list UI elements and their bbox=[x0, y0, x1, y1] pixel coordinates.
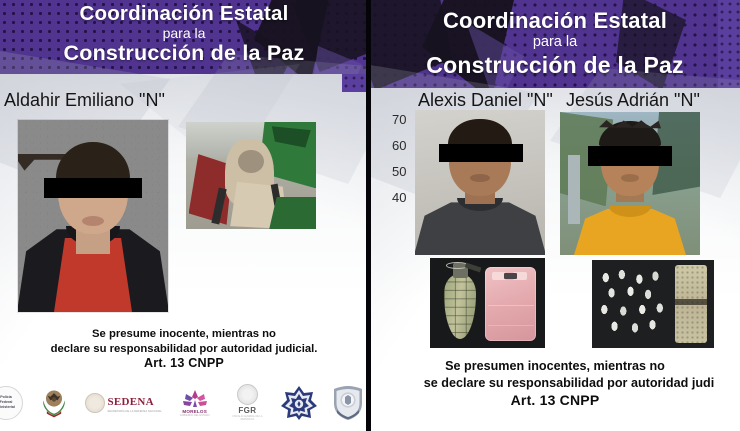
banner-line-2: para la bbox=[0, 25, 368, 41]
left-press-card: Coordinación Estatal para la Construcció… bbox=[0, 0, 368, 431]
escudo-nacional-icon bbox=[36, 386, 72, 420]
banner-tab-dot-pattern bbox=[342, 74, 368, 92]
right-disclaimer: Se presumen inocentes, mientras no se de… bbox=[370, 358, 740, 409]
height-scale-70: 70 bbox=[392, 112, 406, 127]
disclaimer-line-2: declare su responsabilidad por autoridad… bbox=[0, 342, 368, 357]
left-card-body: Aldahir Emiliano "N" bbox=[0, 74, 368, 431]
evidence-photo-drug-packets bbox=[592, 260, 714, 348]
screenshot-root: Coordinación Estatal para la Construcció… bbox=[0, 0, 740, 431]
disclaimer-line-1: Se presumen inocentes, mientras no bbox=[370, 358, 740, 375]
mugshot-photo-aldahir bbox=[18, 120, 168, 312]
agency-logo-strip: Policía Federal Ministerial bbox=[0, 379, 368, 426]
morelos-label: MORELOS bbox=[180, 409, 210, 414]
evidence-photo-grenade-phone bbox=[430, 258, 545, 348]
morelos-logo: MORELOS GOBIERNO DEL ESTADO bbox=[175, 389, 215, 417]
right-banner: Coordinación Estatal para la Construcció… bbox=[370, 0, 740, 88]
disclaimer-article: Art. 13 CNPP bbox=[370, 392, 740, 409]
fgr-label: FGR bbox=[227, 406, 267, 415]
fgr-sublabel: FISCALÍA GENERAL DE LA REPÚBLICA bbox=[227, 415, 267, 421]
panel-divider bbox=[366, 0, 371, 431]
height-scale-50: 50 bbox=[392, 164, 406, 179]
fgr-logo: FGR FISCALÍA GENERAL DE LA REPÚBLICA bbox=[227, 384, 267, 421]
banner-line-1: Coordinación Estatal bbox=[0, 2, 368, 25]
escudo-nacional-logo bbox=[36, 386, 72, 420]
mugshot-photo-jesus bbox=[560, 112, 700, 255]
banner-purple-tab bbox=[342, 74, 368, 92]
banner-line-3: Construcción de la Paz bbox=[0, 41, 368, 66]
banner-line-1: Coordinación Estatal bbox=[370, 2, 740, 34]
disclaimer-line-2: se declare su responsabilidad por autori… bbox=[384, 375, 740, 392]
height-scale-40: 40 bbox=[392, 190, 406, 205]
left-banner: Coordinación Estatal para la Construcció… bbox=[0, 0, 368, 74]
subject-name-alexis: Alexis Daniel "N" bbox=[418, 90, 553, 111]
mando-coordinado-badge-logo bbox=[331, 385, 365, 421]
banner-line-3: Construcción de la Paz bbox=[370, 51, 740, 79]
sedena-label: SEDENA bbox=[108, 396, 154, 408]
evidence-photo-motorcycle bbox=[186, 122, 316, 229]
sedena-sublabel: SECRETARÍA DE LA DEFENSA NACIONAL bbox=[108, 410, 162, 413]
fgr-seal-icon bbox=[237, 384, 258, 405]
right-card-body: Alexis Daniel "N" Jesús Adrián "N" 70 60… bbox=[370, 88, 740, 431]
sedena-seal-icon bbox=[85, 393, 105, 413]
subject-name-aldahir: Aldahir Emiliano "N" bbox=[4, 90, 165, 111]
police-star-badge-icon bbox=[280, 385, 318, 421]
banner-line-2: para la bbox=[370, 34, 740, 51]
left-disclaimer: Se presume inocente, mientras no declare… bbox=[0, 327, 368, 371]
height-scale-60: 60 bbox=[392, 138, 406, 153]
policia-estatal-badge-logo bbox=[280, 385, 318, 421]
subject-name-jesus: Jesús Adrián "N" bbox=[566, 90, 700, 111]
disclaimer-article: Art. 13 CNPP bbox=[0, 356, 368, 371]
right-banner-text: Coordinación Estatal para la Construcció… bbox=[370, 0, 740, 79]
morelos-sublabel: GOBIERNO DEL ESTADO bbox=[180, 414, 210, 417]
shield-badge-icon bbox=[331, 385, 365, 421]
disclaimer-line-1: Se presume inocente, mientras no bbox=[0, 327, 368, 342]
policia-federal-ministerial-logo: Policía Federal Ministerial bbox=[0, 386, 23, 420]
sedena-logo: SEDENA SECRETARÍA DE LA DEFENSA NACIONAL bbox=[85, 392, 162, 413]
morelos-mark-icon bbox=[181, 389, 209, 409]
mugshot-photo-alexis bbox=[415, 110, 545, 255]
left-banner-text: Coordinación Estatal para la Construcció… bbox=[0, 0, 368, 66]
right-press-card: Coordinación Estatal para la Construcció… bbox=[370, 0, 740, 431]
